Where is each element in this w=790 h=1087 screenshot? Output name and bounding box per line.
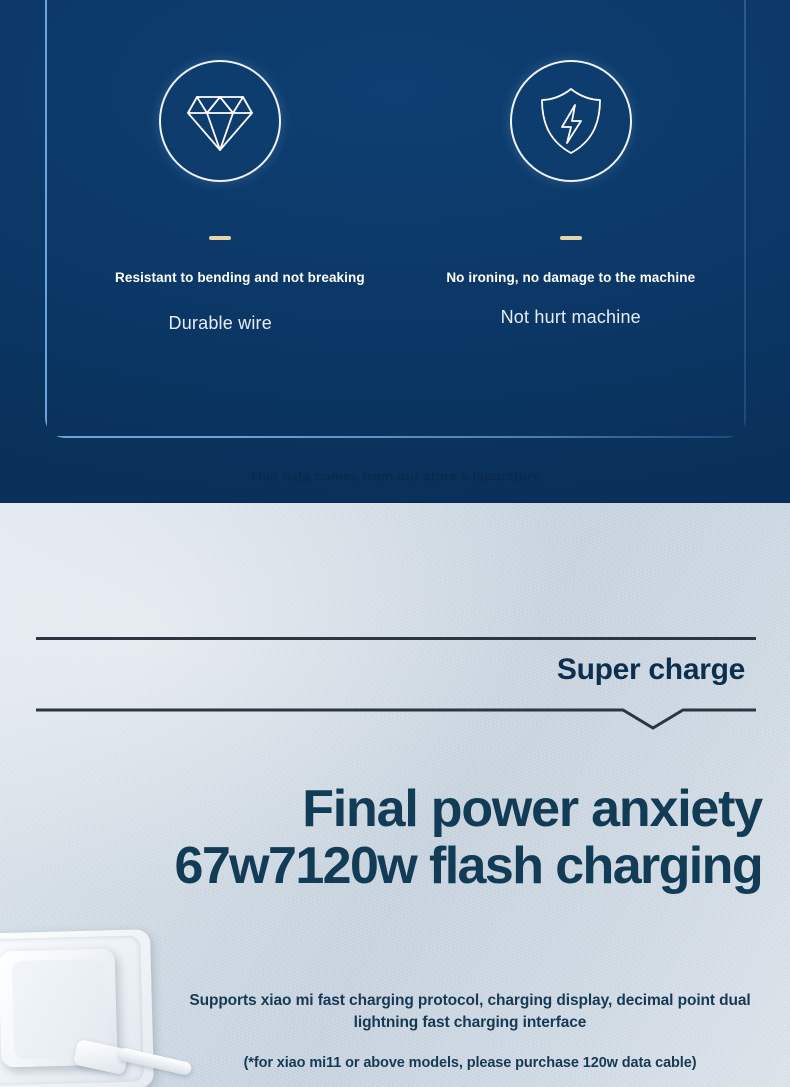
divider-rule-bottom-notched <box>36 708 756 732</box>
page-title: Final power anxiety 67w7120w flash charg… <box>0 781 762 895</box>
product-detail-page: Resistant to bending and not breaking Du… <box>0 0 790 1087</box>
feature-item-durable-wire: Resistant to bending and not breaking Du… <box>45 60 396 360</box>
feature-title: Resistant to bending and not breaking <box>45 270 396 286</box>
feature-list: Resistant to bending and not breaking Du… <box>45 60 746 360</box>
section-eyebrow-title: Super charge <box>0 653 745 687</box>
body-copy: Supports xiao mi fast charging protocol,… <box>170 990 770 1034</box>
fine-print-note: (*for xiao mi11 or above models, please … <box>170 1055 770 1071</box>
headline-line-2: 67w7120w flash charging <box>175 837 762 895</box>
diamond-icon <box>159 60 281 182</box>
gold-divider-dash <box>560 236 582 240</box>
feature-subtitle: Not hurt machine <box>501 307 641 328</box>
charger-photo <box>0 924 198 1087</box>
gold-divider-dash <box>209 236 231 240</box>
headline-line-1: Final power anxiety <box>302 780 762 838</box>
feature-item-not-hurt-machine: No ironing, no damage to the machine Not… <box>396 60 747 360</box>
divider-rule-top <box>36 637 756 640</box>
feature-title: No ironing, no damage to the machine <box>396 270 747 286</box>
features-section: Resistant to bending and not breaking Du… <box>0 0 790 503</box>
feature-subtitle: Durable wire <box>169 313 272 334</box>
lab-source-note: This data comes from our store's laborat… <box>0 469 790 484</box>
shield-lightning-icon <box>510 60 632 182</box>
